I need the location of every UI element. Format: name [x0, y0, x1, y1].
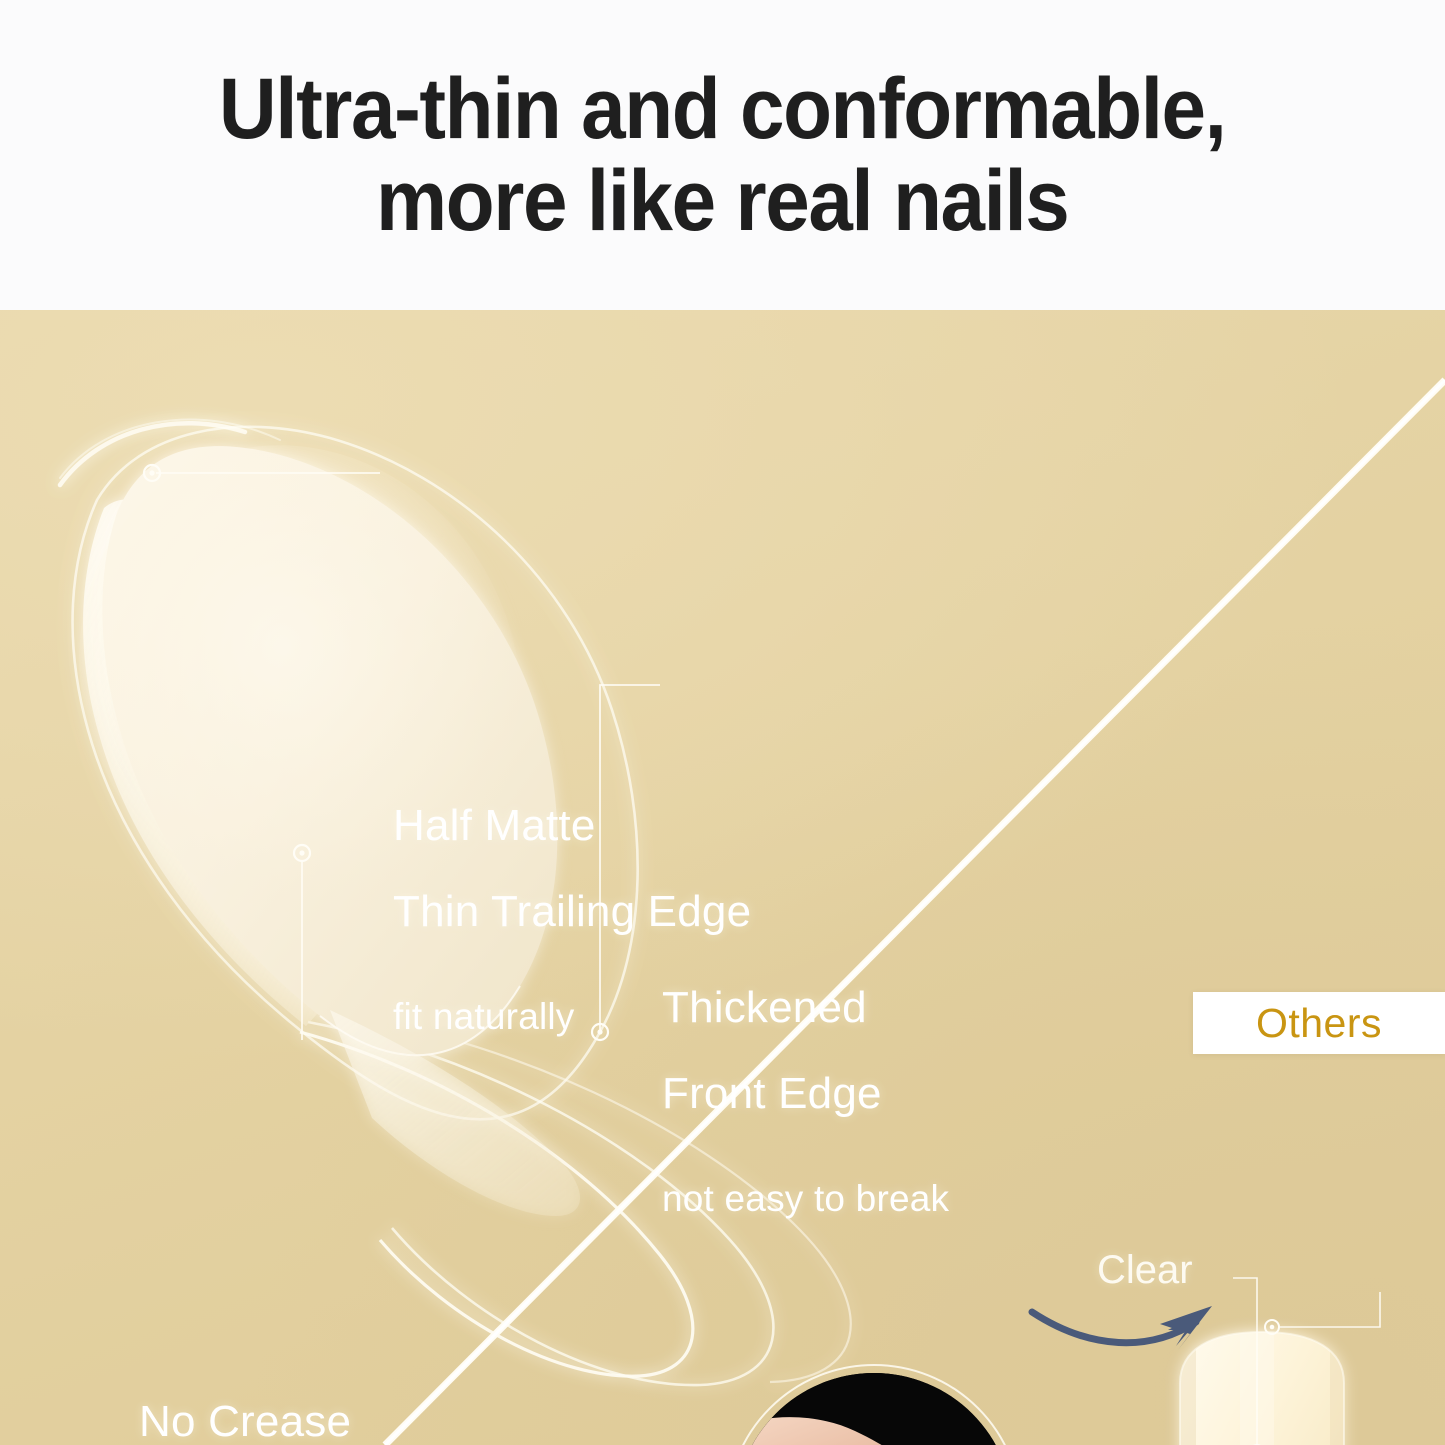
annotation-thickened-title-1: Thickened — [662, 983, 949, 1033]
bend-arrow-icon — [1032, 1306, 1212, 1350]
annotation-half-matte-title-2: Thin Trailing Edge — [393, 887, 751, 937]
header-banner: Ultra-thin and conformable, more like re… — [0, 0, 1445, 310]
brand-badge-others: Others — [1193, 992, 1445, 1054]
annotation-no-crease: No Crease strong toughness — [139, 1361, 426, 1445]
page-title-line-2: more like real nails — [376, 155, 1068, 247]
annotation-thickened-title-2: Front Edge — [662, 1069, 949, 1119]
leader-abs — [1265, 1292, 1380, 1334]
annotation-thickened-front-edge: Thickened Front Edge not easy to break — [662, 947, 949, 1258]
annotation-after-bend: After Bend — [1058, 1425, 1218, 1445]
annotation-clear: Clear — [1097, 1248, 1193, 1293]
page-title-line-1: Ultra-thin and conformable, — [219, 63, 1226, 155]
comparison-stage: Half Matte Thin Trailing Edge fit natura… — [0, 310, 1445, 1445]
infographic-page: Ultra-thin and conformable, more like re… — [0, 0, 1445, 1445]
annotation-no-crease-title: No Crease — [139, 1397, 426, 1445]
annotation-half-matte-title-1: Half Matte — [393, 801, 751, 851]
annotation-thickened-subtitle: not easy to break — [662, 1177, 949, 1221]
